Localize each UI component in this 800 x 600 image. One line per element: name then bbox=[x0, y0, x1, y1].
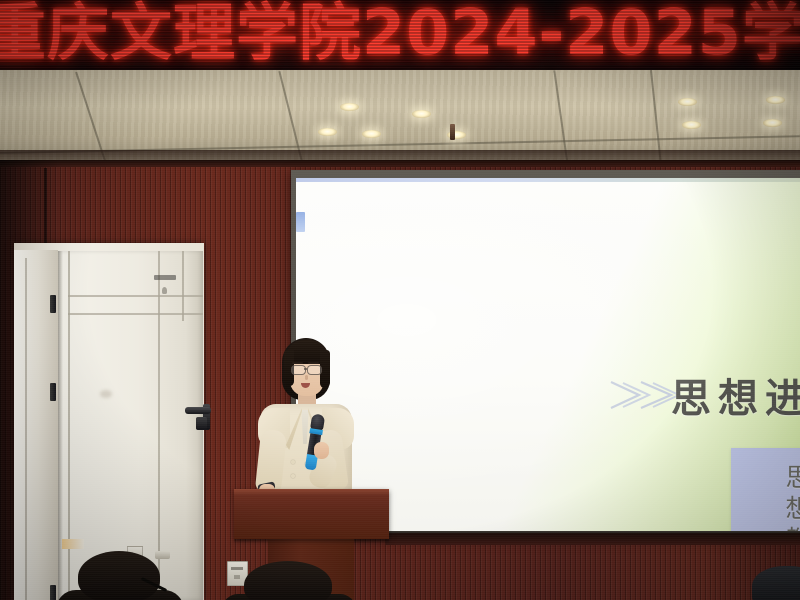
led-scrolling-banner: 重庆文理学院2024-2025学年第一学期 bbox=[0, 0, 800, 72]
door-lock[interactable] bbox=[196, 417, 207, 430]
ceiling-downlight-icon bbox=[340, 103, 359, 111]
door-smudge bbox=[100, 390, 112, 398]
eyeglasses-icon bbox=[307, 365, 322, 375]
presenter-nose bbox=[305, 375, 308, 380]
slide-card: 思想教育活动 bbox=[731, 448, 800, 533]
projection-screen-top-edge bbox=[296, 178, 800, 182]
door-jamb-line bbox=[25, 258, 27, 600]
slide-title: 思想进步 向心逐 bbox=[671, 366, 800, 424]
door-groove bbox=[68, 313, 203, 315]
wall-outlet-slot bbox=[231, 567, 243, 570]
door-hinge bbox=[50, 383, 56, 401]
ceiling-downlight-icon bbox=[766, 96, 785, 104]
double-chevron-icon bbox=[607, 378, 681, 412]
jacket-button bbox=[291, 474, 295, 478]
speaker-podium bbox=[234, 489, 389, 539]
door-groove bbox=[182, 251, 184, 321]
door-stopper bbox=[155, 551, 170, 559]
door-groove bbox=[158, 251, 160, 600]
jacket-button bbox=[291, 460, 295, 464]
door-hinge bbox=[50, 295, 56, 313]
presenter-eyebrow bbox=[292, 362, 303, 364]
presenter bbox=[246, 338, 366, 503]
ceiling-downlight-icon bbox=[362, 130, 381, 138]
door-hinge bbox=[50, 585, 56, 600]
projection-screen-blue-mark bbox=[296, 212, 305, 232]
wall-top-trim bbox=[0, 160, 800, 167]
led-banner-edge-shadow bbox=[680, 0, 800, 72]
wall-lower-shadow-band bbox=[385, 533, 800, 545]
eyeglasses-icon bbox=[291, 365, 306, 375]
door-emblem-icon bbox=[162, 287, 167, 294]
ceiling-downlight-icon bbox=[763, 119, 782, 127]
presenter-eyebrow bbox=[308, 362, 319, 364]
ceiling-downlight-icon bbox=[682, 121, 701, 129]
door-brand-label bbox=[154, 275, 176, 280]
ceiling-downlight-icon bbox=[412, 110, 431, 118]
photo-scene: 重庆文理学院2024-2025学年第一学期 思想进步 向心逐 思想 bbox=[0, 0, 800, 600]
wall-outlet-slot bbox=[234, 575, 240, 579]
slide-card-label: 思想教育活动 bbox=[778, 464, 800, 533]
presenter-right-hand bbox=[314, 442, 329, 459]
door-groove bbox=[68, 295, 203, 297]
audience-member-head bbox=[78, 551, 160, 600]
eyeglasses-bridge bbox=[304, 368, 307, 370]
ceiling-downlight-icon bbox=[678, 98, 697, 106]
ceiling-sprinkler-icon bbox=[450, 124, 455, 140]
podium-top-edge bbox=[234, 489, 389, 495]
door-handle[interactable] bbox=[185, 407, 211, 414]
slide-title-segment-1: 思想进步 bbox=[671, 376, 800, 422]
projection-screen: 思想进步 向心逐 思想教育活动 党团校结业 bbox=[296, 178, 800, 533]
ceiling-downlight-icon bbox=[318, 128, 337, 136]
door-sticker bbox=[62, 539, 84, 549]
